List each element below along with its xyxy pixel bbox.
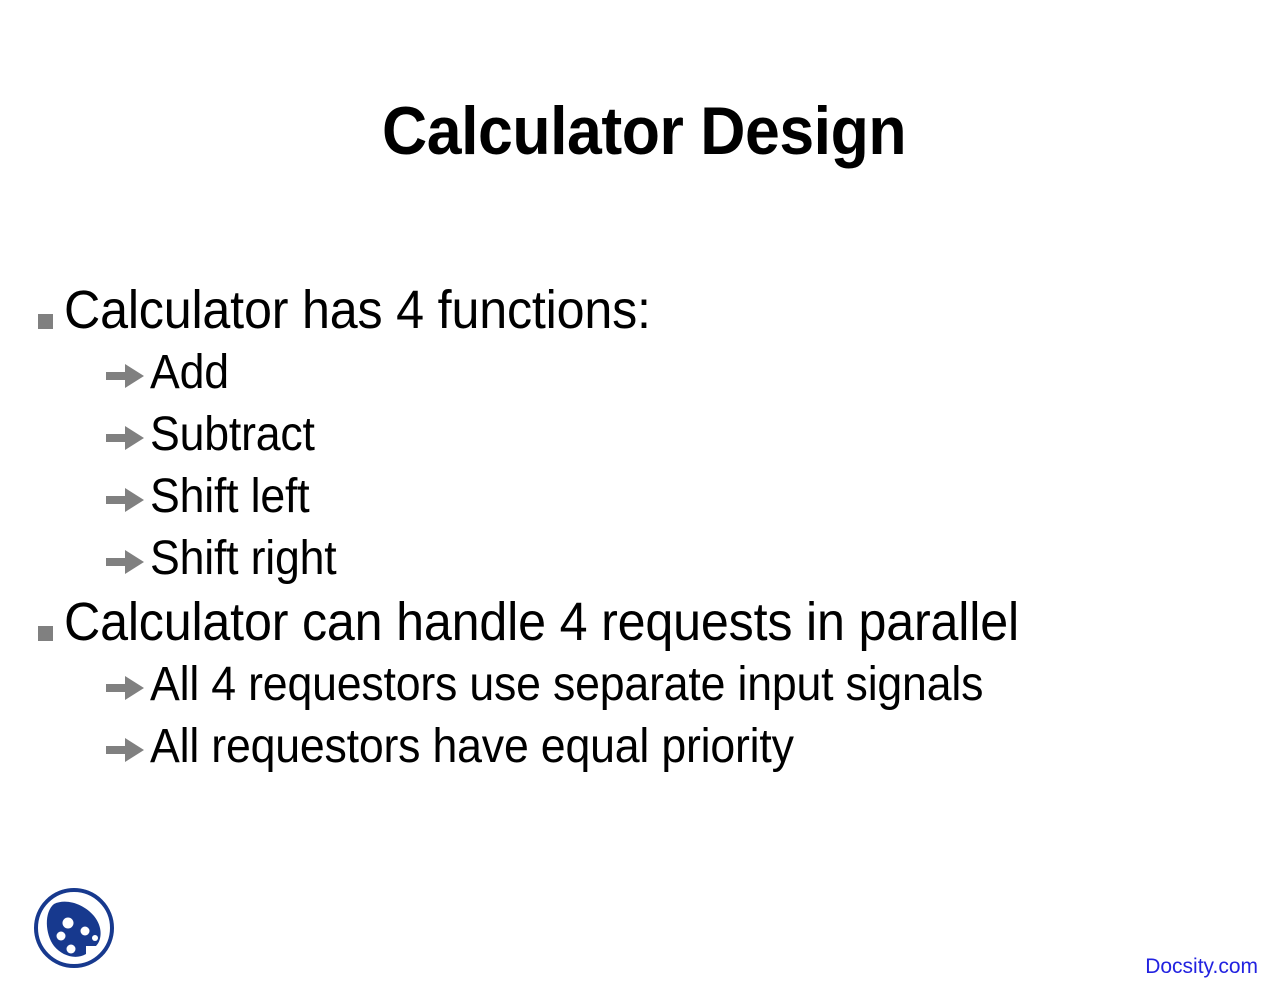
list-item-label: All 4 requestors use separate input sign… [150, 654, 983, 716]
square-bullet-icon [38, 278, 64, 342]
arrow-bullet-icon [106, 716, 150, 778]
list-item-label: Calculator can handle 4 requests in para… [64, 590, 1019, 654]
arrow-bullet-icon [106, 654, 150, 716]
arrow-bullet-icon [106, 404, 150, 466]
page-title: Calculator Design [55, 92, 1233, 170]
list-item-label: Add [150, 342, 229, 404]
list-item-label: All requestors have equal priority [150, 716, 794, 778]
list-item: Calculator has 4 functions: [38, 278, 1253, 342]
arrow-bullet-icon [106, 528, 150, 590]
slide-canvas: Calculator Design Calculator has 4 funct… [0, 0, 1280, 989]
list-item-label: Subtract [150, 404, 315, 466]
docsity-logo [28, 882, 120, 974]
arrow-bullet-icon [106, 342, 150, 404]
list-item: Shift right [38, 528, 1253, 590]
arrow-bullet-icon [106, 466, 150, 528]
list-item: Subtract [38, 404, 1253, 466]
list-item-label: Shift right [150, 528, 337, 590]
list-item: Shift left [38, 466, 1253, 528]
list-item: Add [38, 342, 1253, 404]
square-bullet-icon [38, 590, 64, 654]
list-item: All requestors have equal priority [38, 716, 1253, 778]
list-item: Calculator can handle 4 requests in para… [38, 590, 1253, 654]
slide-body-list: Calculator has 4 functions: Add Subtract [38, 278, 1253, 778]
list-item: All 4 requestors use separate input sign… [38, 654, 1253, 716]
list-item-label: Calculator has 4 functions: [64, 278, 651, 342]
list-item-label: Shift left [150, 466, 309, 528]
docsity-brand-text[interactable]: Docsity.com [1145, 955, 1258, 979]
